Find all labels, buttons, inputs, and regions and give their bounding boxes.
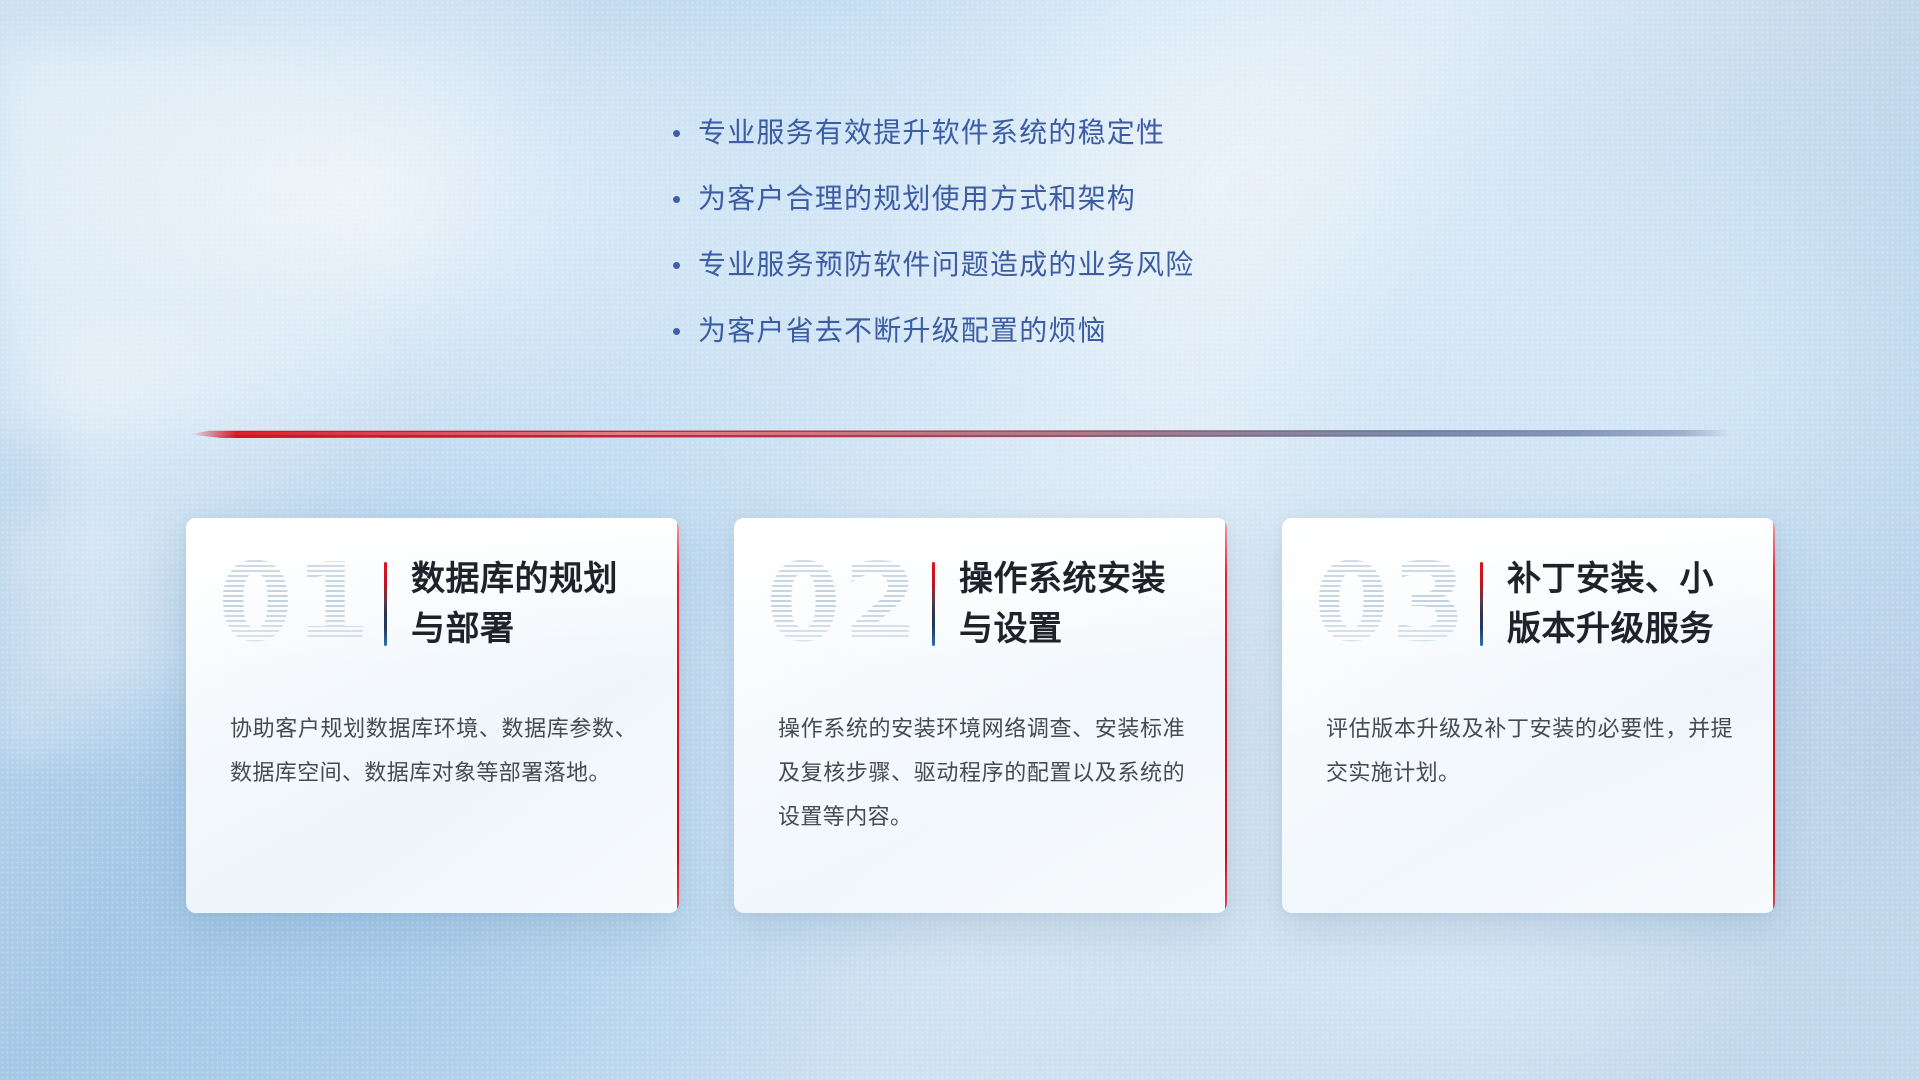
- card-body: 评估版本升级及补丁安装的必要性，并提交实施计划。: [1282, 690, 1775, 796]
- card-title: 操作系统安装与设置: [959, 554, 1197, 654]
- card-index-number: 02: [758, 545, 928, 663]
- card-description: 评估版本升级及补丁安装的必要性，并提交实施计划。: [1326, 708, 1733, 796]
- card-index-watermark: 02: [758, 545, 928, 663]
- benefits-bullet-list: • 专业服务有效提升软件系统的稳定性 • 为客户合理的规划使用方式和架构 • 专…: [672, 112, 1194, 352]
- divider-highlight: [190, 432, 1730, 435]
- bullet-dot-icon: •: [672, 178, 698, 220]
- service-card-list: 01 数据库的规划与部署 协助客户规划数据库环境、数据库参数、数据库空间、数据库…: [186, 518, 1775, 913]
- bullet-text: 专业服务有效提升软件系统的稳定性: [698, 112, 1165, 154]
- card-header: 03 补丁安装、小版本升级服务: [1282, 518, 1775, 690]
- card-header: 01 数据库的规划与部署: [186, 518, 679, 690]
- card-title-accent-rule: [384, 562, 387, 646]
- card-title: 补丁安装、小版本升级服务: [1507, 554, 1745, 654]
- card-title-accent-rule: [932, 562, 935, 646]
- list-item: • 专业服务预防软件问题造成的业务风险: [672, 244, 1194, 286]
- bullet-text: 为客户合理的规划使用方式和架构: [698, 178, 1136, 220]
- card-index-watermark: 03: [1306, 545, 1476, 663]
- card-body: 操作系统的安装环境网络调查、安装标准及复核步骤、驱动程序的配置以及系统的设置等内…: [734, 690, 1227, 840]
- bullet-text: 专业服务预防软件问题造成的业务风险: [698, 244, 1194, 286]
- service-card-02[interactable]: 02 操作系统安装与设置 操作系统的安装环境网络调查、安装标准及复核步骤、驱动程…: [734, 518, 1227, 913]
- list-item: • 专业服务有效提升软件系统的稳定性: [672, 112, 1194, 154]
- bullet-text: 为客户省去不断升级配置的烦恼: [698, 310, 1107, 352]
- card-index-number: 01: [210, 545, 380, 663]
- card-body: 协助客户规划数据库环境、数据库参数、数据库空间、数据库对象等部署落地。: [186, 690, 679, 796]
- card-header: 02 操作系统安装与设置: [734, 518, 1227, 690]
- bullet-dot-icon: •: [672, 310, 698, 352]
- card-index-watermark: 01: [210, 545, 380, 663]
- card-title: 数据库的规划与部署: [411, 554, 649, 654]
- service-card-03[interactable]: 03 补丁安装、小版本升级服务 评估版本升级及补丁安装的必要性，并提交实施计划。: [1282, 518, 1775, 913]
- card-description: 操作系统的安装环境网络调查、安装标准及复核步骤、驱动程序的配置以及系统的设置等内…: [778, 708, 1185, 840]
- bullet-dot-icon: •: [672, 112, 698, 154]
- card-title-accent-rule: [1480, 562, 1483, 646]
- service-card-01[interactable]: 01 数据库的规划与部署 协助客户规划数据库环境、数据库参数、数据库空间、数据库…: [186, 518, 679, 913]
- card-description: 协助客户规划数据库环境、数据库参数、数据库空间、数据库对象等部署落地。: [230, 708, 637, 796]
- list-item: • 为客户省去不断升级配置的烦恼: [672, 310, 1194, 352]
- card-index-number: 03: [1306, 545, 1476, 663]
- bullet-dot-icon: •: [672, 244, 698, 286]
- list-item: • 为客户合理的规划使用方式和架构: [672, 178, 1194, 220]
- section-divider: [190, 430, 1730, 442]
